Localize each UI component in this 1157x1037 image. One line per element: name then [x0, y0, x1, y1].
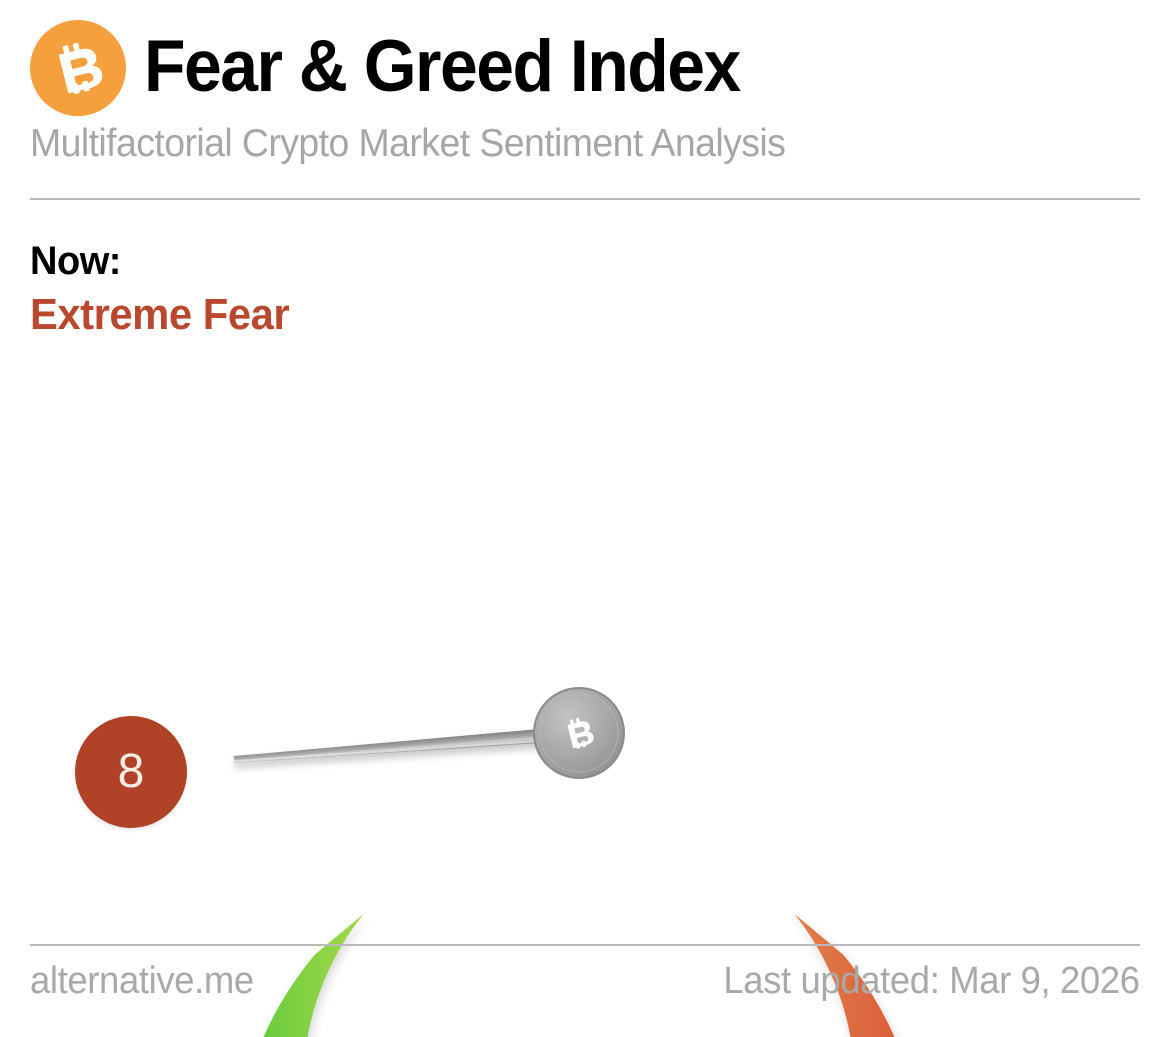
footer: alternative.me Last updated: Mar 9, 2026 — [30, 960, 1140, 1003]
divider-bottom — [30, 944, 1140, 946]
gauge-hub — [534, 688, 624, 778]
index-value-badge: 8 — [75, 716, 187, 828]
gauge-svg — [190, 340, 970, 900]
page-title: Fear & Greed Index — [144, 30, 740, 103]
status-label: Now: — [30, 238, 289, 285]
source-link[interactable]: alternative.me — [30, 960, 254, 1003]
divider-top — [30, 198, 1140, 200]
page-subtitle: Multifactorial Crypto Market Sentiment A… — [30, 124, 1096, 165]
status-block: Now: Extreme Fear — [30, 238, 303, 341]
gauge-needle — [233, 726, 579, 768]
gauge-chart — [0, 340, 1157, 920]
fear-greed-index-card: Fear & Greed Index Multifactorial Crypto… — [0, 0, 1157, 1037]
bitcoin-icon — [30, 20, 126, 116]
last-updated-text: Last updated: Mar 9, 2026 — [724, 960, 1140, 1003]
title-row: Fear & Greed Index — [30, 22, 1140, 110]
status-value: Extreme Fear — [30, 289, 289, 341]
index-value: 8 — [118, 748, 145, 796]
header: Fear & Greed Index Multifactorial Crypto… — [30, 22, 1140, 165]
